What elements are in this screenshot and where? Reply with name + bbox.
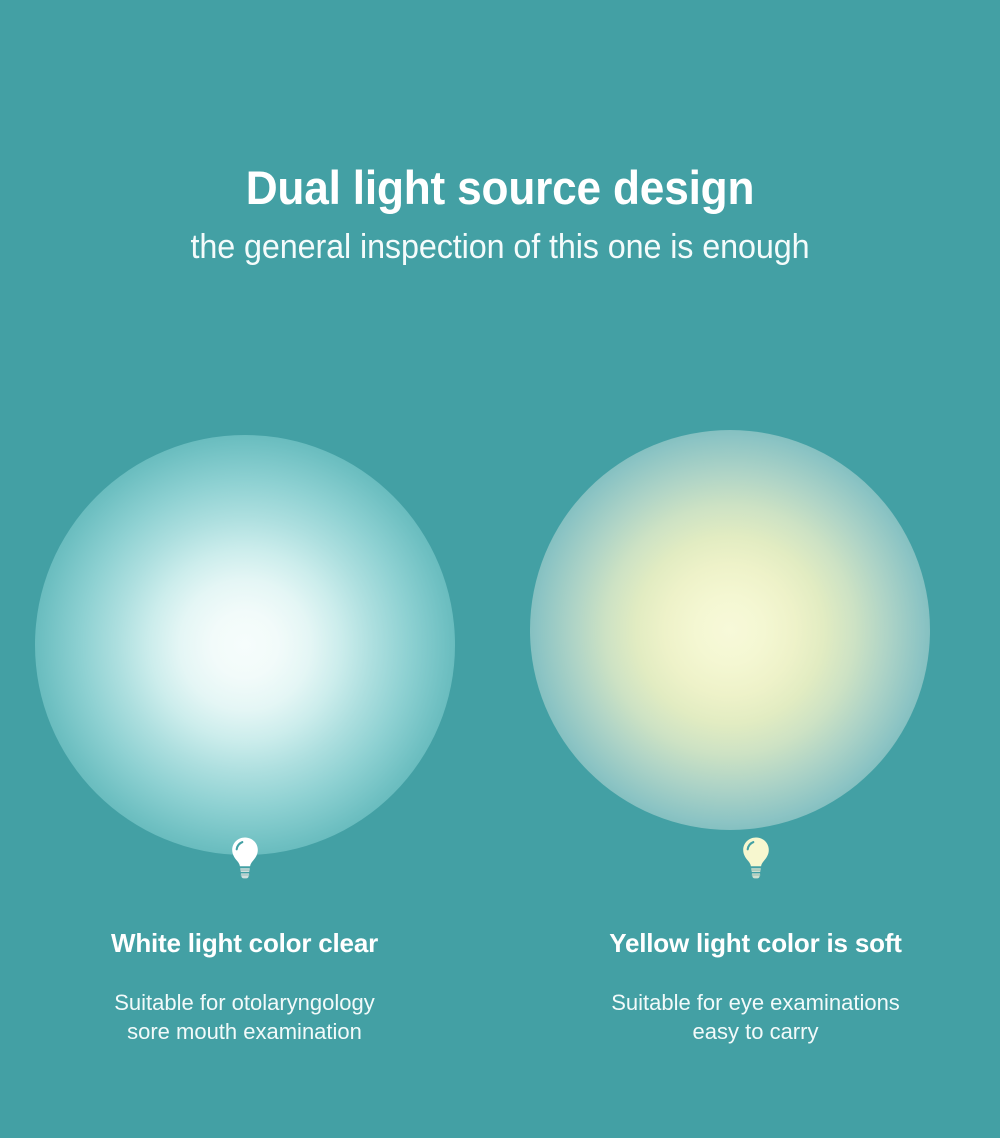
page-title: Dual light source design — [30, 160, 970, 216]
feature-description-line: Suitable for otolaryngology — [114, 988, 375, 1017]
feature-title: Yellow light color is soft — [609, 928, 901, 958]
feature-description-line: Suitable for eye examinations — [611, 988, 900, 1017]
feature-columns: White light color clear Suitable for oto… — [0, 836, 1000, 1046]
feature-description: Suitable for otolaryngology sore mouth e… — [114, 988, 375, 1046]
header: Dual light source design the general ins… — [0, 160, 1000, 268]
white-light-glow — [35, 435, 455, 855]
feature-description: Suitable for eye examinations easy to ca… — [611, 988, 900, 1046]
lightbulb-icon — [741, 836, 771, 880]
feature-description-line: sore mouth examination — [114, 1017, 375, 1046]
feature-description-line: easy to carry — [611, 1017, 900, 1046]
yellow-light-glow — [530, 430, 930, 830]
page-subtitle: the general inspection of this one is en… — [25, 226, 975, 268]
feature-white-light: White light color clear Suitable for oto… — [0, 836, 495, 1046]
lightbulb-icon — [230, 836, 260, 880]
dual-light-source-poster: Dual light source design the general ins… — [0, 0, 1000, 1138]
feature-title: White light color clear — [111, 928, 378, 958]
feature-yellow-light: Yellow light color is soft Suitable for … — [495, 836, 1000, 1046]
